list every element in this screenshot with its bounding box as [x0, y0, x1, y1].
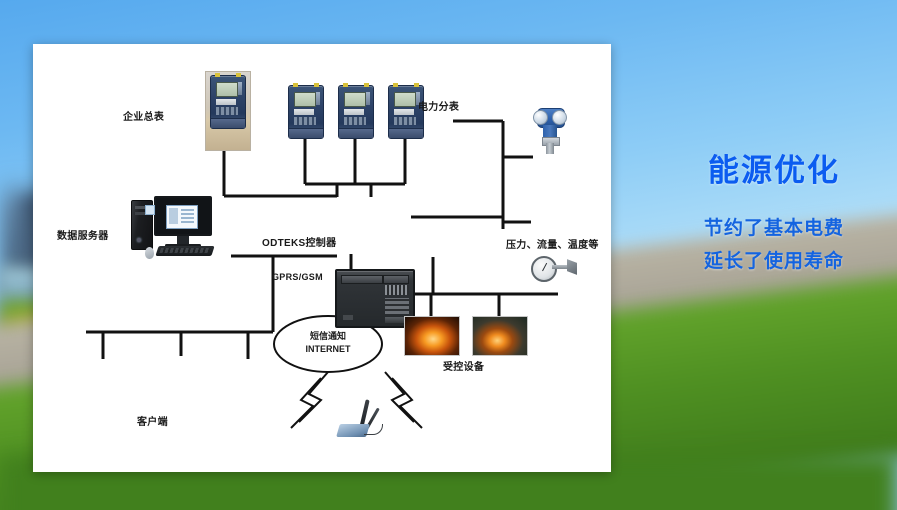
meter-display [344, 92, 366, 107]
system-topology-diagram: 企业总表 [33, 44, 611, 472]
pressure-gauge[interactable] [531, 255, 577, 281]
label-enterprise-meter: 企业总表 [123, 112, 164, 125]
meter-clip-left [215, 73, 220, 77]
gauge-dial [531, 256, 557, 282]
headline-title: 能源优化 [651, 145, 897, 190]
meter-buttons [366, 92, 370, 105]
meter-clip-right [314, 83, 319, 87]
label-data-server: 数据服务器 [57, 231, 109, 244]
label-sensors: 压力、流量、温度等 [506, 240, 599, 253]
cloud-line-1: 短信通知 [283, 332, 373, 344]
cloud-line-2: INTERNET [283, 344, 373, 356]
meter-clip-right [414, 83, 419, 87]
meter-clip-right [364, 83, 369, 87]
odteks-controller[interactable] [335, 269, 415, 328]
thermowell-tip [567, 259, 577, 275]
meter-terminal-block [216, 107, 238, 115]
headline-block: 能源优化 节约了基本电费 延长了使用寿命 [651, 145, 897, 279]
meter-terminal-block [344, 117, 366, 125]
meter-label-strip [294, 109, 314, 115]
controller-display-bar [341, 275, 383, 284]
meter-clip-left [343, 83, 348, 87]
enterprise-meter[interactable] [210, 75, 246, 129]
controller-status-bar [383, 275, 409, 284]
transmitter-cap-right [552, 110, 567, 125]
power-led [137, 238, 141, 242]
gprs-modem[interactable] [338, 403, 384, 437]
label-controlled-equipment: 受控设备 [443, 362, 484, 375]
meter-label-strip [394, 109, 414, 115]
power-submeter-2[interactable] [338, 85, 374, 139]
label-power-submeter: 电力分表 [418, 102, 459, 115]
benefit-line-1: 节约了基本电费 [651, 212, 897, 245]
meter-base [339, 128, 373, 138]
monitor-stand [177, 236, 189, 244]
controller-port [343, 315, 353, 320]
server-monitor [154, 196, 212, 236]
transmitter-cap-left [533, 110, 548, 125]
meter-display [394, 92, 416, 107]
furnace-photo-right [472, 316, 528, 356]
meter-base [211, 118, 245, 128]
label-gprs-gsm: GPRS/GSM [272, 272, 323, 283]
meter-clip-left [293, 83, 298, 87]
label-client: 客户端 [137, 417, 168, 430]
label-controller: ODTEKS控制器 [262, 238, 336, 251]
keyboard [155, 246, 214, 256]
controller-led-grid [385, 285, 409, 295]
meter-buttons [238, 82, 242, 95]
power-submeter-1[interactable] [288, 85, 324, 139]
pressure-transmitter[interactable] [533, 108, 567, 154]
meter-base [289, 128, 323, 138]
slide-stage: 企业总表 [0, 0, 897, 510]
meter-label-strip [216, 99, 236, 105]
controller-keypad [385, 298, 409, 314]
data-server[interactable] [131, 194, 231, 262]
meter-buttons [316, 92, 320, 105]
diagram-card: 企业总表 [33, 44, 611, 472]
mouse [145, 247, 154, 259]
modem-cable [364, 424, 383, 435]
transmitter-stem [546, 143, 554, 154]
meter-display [294, 92, 316, 107]
meter-base [389, 128, 423, 138]
furnace-photo-left [404, 316, 460, 356]
meter-clip-right [236, 73, 241, 77]
meter-terminal-block [294, 117, 316, 125]
meter-clip-left [393, 83, 398, 87]
internet-cloud-label: 短信通知 INTERNET [283, 332, 373, 355]
benefit-line-2: 延长了使用寿命 [651, 245, 897, 278]
headline-benefits: 节约了基本电费 延长了使用寿命 [651, 212, 897, 279]
meter-label-strip [344, 109, 364, 115]
meter-terminal-block [394, 117, 416, 125]
meter-display [216, 82, 238, 97]
